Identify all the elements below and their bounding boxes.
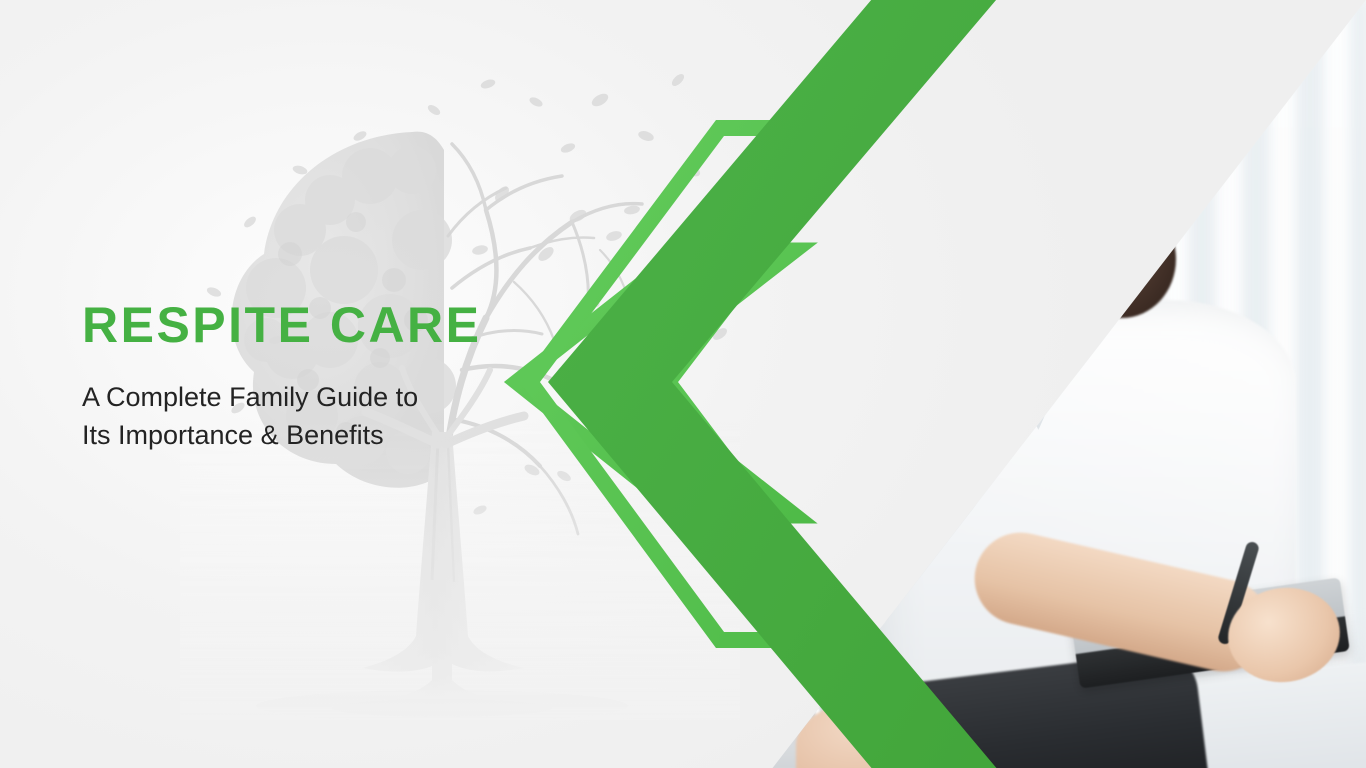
caregiver-right-eyebrow <box>1028 164 1081 178</box>
caregiver-right-eye <box>1028 191 1067 203</box>
tree-trunk <box>362 432 524 704</box>
elderly-woman-right-eye <box>852 189 883 202</box>
caregiver-face <box>932 92 1128 338</box>
banner-subtitle: A Complete Family Guide to Its Importanc… <box>82 378 552 455</box>
caregiver-finger <box>690 298 737 363</box>
banner-subtitle-line-1: A Complete Family Guide to <box>82 382 418 412</box>
elderly-woman-left-eye <box>784 194 815 208</box>
elderly-woman-hair <box>700 28 938 278</box>
caregiver-arm-on-shoulder <box>702 215 988 378</box>
elderly-woman-mouth <box>816 278 876 317</box>
caregiver-finger <box>747 305 775 369</box>
elderly-woman-face <box>748 104 938 352</box>
chevron-outline-1 <box>516 250 796 516</box>
caregiver-hand-on-shoulder <box>687 251 817 368</box>
caregiver-smile <box>970 254 1065 302</box>
elderly-woman-knit-sleeve <box>680 520 890 720</box>
caregiver-hair-bun <box>1068 200 1176 318</box>
chevron-outline-2 <box>530 128 862 640</box>
banner-subtitle-line-2: Its Importance & Benefits <box>82 416 552 454</box>
elderly-woman-wrinkles <box>754 150 924 340</box>
elderly-woman-earring <box>738 226 751 245</box>
caregiver-left-eyebrow <box>952 167 1005 183</box>
caregiver-hair <box>892 24 1152 324</box>
caregiver-left-eye <box>958 194 997 207</box>
caregiver-teeth <box>975 256 1060 281</box>
page-title: RESPITE CARE <box>82 300 552 350</box>
caregiver-and-elderly-woman-photo <box>676 0 1366 768</box>
caregiver-finger <box>770 303 796 366</box>
banner-text-block: RESPITE CARE A Complete Family Guide to … <box>82 300 552 455</box>
respite-care-banner: RESPITE CARE A Complete Family Guide to … <box>0 0 1366 768</box>
caregiver-finger <box>718 302 756 368</box>
